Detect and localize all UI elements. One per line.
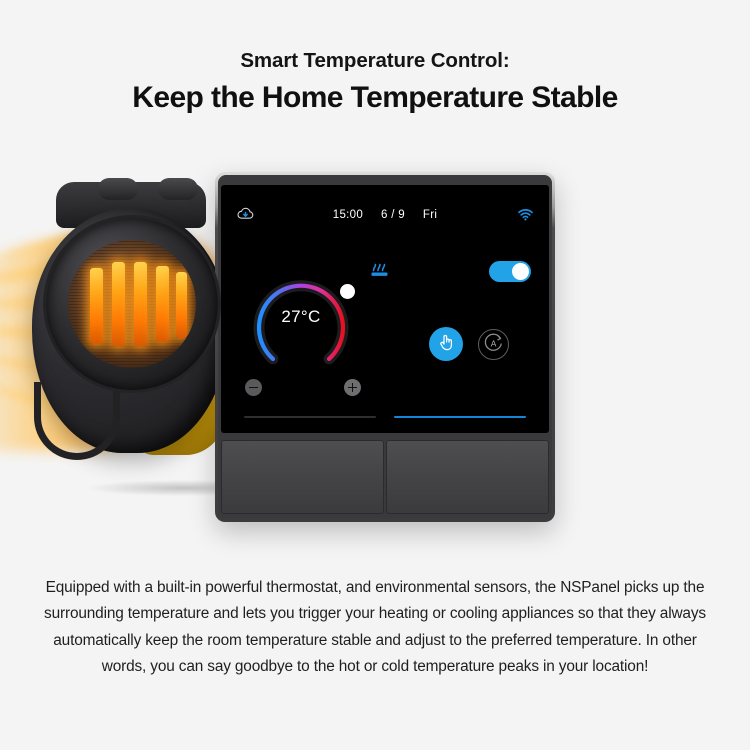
auto-mode-button[interactable]: A [478, 329, 509, 360]
power-toggle[interactable] [489, 261, 531, 282]
status-bar: 15:00 6 / 9 Fri [221, 207, 549, 225]
heater-control-knob [98, 178, 138, 200]
physical-button-left[interactable] [221, 440, 384, 514]
physical-button-right[interactable] [386, 440, 549, 514]
heating-element [156, 266, 169, 342]
heater-front-ring [46, 218, 218, 390]
description-paragraph: Equipped with a built-in powerful thermo… [0, 575, 750, 681]
dial-knob[interactable] [340, 284, 355, 299]
device-bezel: 15:00 6 / 9 Fri [218, 175, 552, 519]
hand-touch-icon [438, 332, 455, 356]
manual-mode-button[interactable] [429, 327, 463, 361]
temperature-dial[interactable]: 27°C [245, 263, 357, 375]
heating-element [112, 262, 125, 346]
auto-mode-icon: A [483, 332, 504, 358]
decrease-temperature-button[interactable] [245, 379, 262, 396]
heater-body [28, 182, 233, 467]
toggle-knob [512, 263, 529, 280]
page-subtitle: Smart Temperature Control: [0, 48, 750, 74]
page-indicators [221, 416, 549, 419]
device-touchscreen[interactable]: 15:00 6 / 9 Fri [221, 185, 549, 433]
page-indicator-inactive[interactable] [244, 416, 376, 419]
status-weekday: Fri [423, 209, 437, 221]
increase-temperature-button[interactable] [344, 379, 361, 396]
heater-control-knob [158, 178, 198, 200]
status-bar-center: 15:00 6 / 9 Fri [221, 209, 549, 221]
temperature-value: 27°C [245, 307, 357, 327]
heater-grill [68, 240, 196, 368]
heading-block: Smart Temperature Control: Keep the Home… [0, 48, 750, 116]
heating-element [176, 272, 187, 338]
status-time: 15:00 [333, 209, 363, 221]
heating-element [134, 262, 147, 346]
page-title: Keep the Home Temperature Stable [0, 80, 750, 116]
temperature-stepper [245, 379, 361, 397]
status-date: 6 / 9 [381, 209, 405, 221]
hero-image: 15:00 6 / 9 Fri [0, 150, 750, 550]
physical-button-row [221, 440, 549, 514]
heating-icon[interactable] [369, 261, 390, 285]
nspanel-device: 15:00 6 / 9 Fri [215, 172, 555, 522]
page-indicator-active[interactable] [394, 416, 526, 419]
heating-element [90, 268, 103, 344]
svg-text:A: A [491, 338, 497, 348]
wifi-icon [518, 208, 533, 226]
